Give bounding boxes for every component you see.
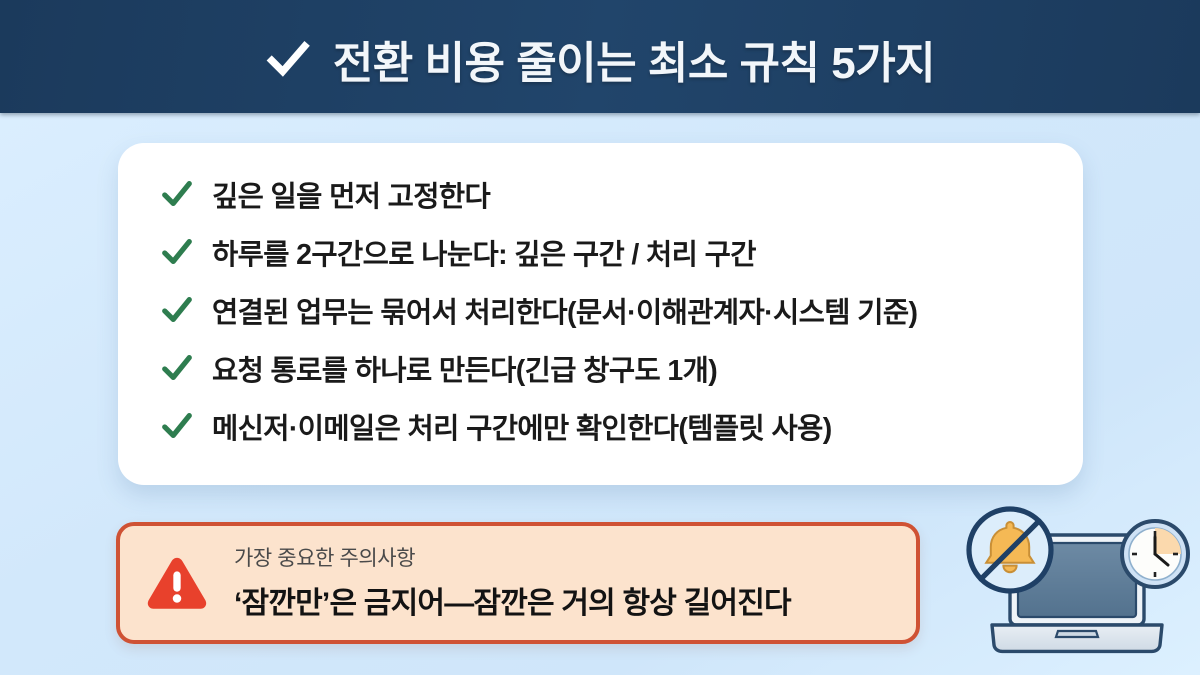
check-icon <box>160 235 194 269</box>
clock-icon <box>1122 521 1188 587</box>
check-icon <box>160 351 194 385</box>
list-item: 연결된 업무는 묶어서 처리한다(문서·이해관계자·시스템 기준) <box>118 281 1083 339</box>
check-icon <box>160 409 194 443</box>
check-icon <box>160 293 194 327</box>
warning-texts: 가장 중요한 주의사항 ‘잠깐만’은 금지어—잠깐은 거의 항상 길어진다 <box>234 542 791 622</box>
list-item: 하루를 2구간으로 나눈다: 깊은 구간 / 처리 구간 <box>118 223 1083 281</box>
list-item: 요청 통로를 하나로 만든다(긴급 창구도 1개) <box>118 339 1083 397</box>
warning-label: 가장 중요한 주의사항 <box>234 542 791 572</box>
check-icon <box>265 36 311 82</box>
warning-callout: 가장 중요한 주의사항 ‘잠깐만’은 금지어—잠깐은 거의 항상 길어진다 <box>116 522 920 644</box>
list-item: 깊은 일을 먼저 고정한다 <box>118 165 1083 223</box>
rule-text: 요청 통로를 하나로 만든다(긴급 창구도 1개) <box>212 348 717 389</box>
slide-root: 전환 비용 줄이는 최소 규칙 5가지 깊은 일을 먼저 고정한다 하루를 2구… <box>0 0 1200 675</box>
rules-card: 깊은 일을 먼저 고정한다 하루를 2구간으로 나눈다: 깊은 구간 / 처리 … <box>118 143 1083 485</box>
warning-triangle-icon <box>146 554 208 612</box>
rules-list: 깊은 일을 먼저 고정한다 하루를 2구간으로 나눈다: 깊은 구간 / 처리 … <box>118 165 1083 455</box>
bell-muted-icon <box>969 509 1051 591</box>
rule-text: 메신저·이메일은 처리 구간에만 확인한다(템플릿 사용) <box>212 406 832 447</box>
page-title: 전환 비용 줄이는 최소 규칙 5가지 <box>333 27 935 91</box>
list-item: 메신저·이메일은 처리 구간에만 확인한다(템플릿 사용) <box>118 397 1083 455</box>
slide-header: 전환 비용 줄이는 최소 규칙 5가지 <box>0 0 1200 113</box>
header-inner: 전환 비용 줄이는 최소 규칙 5가지 <box>265 27 935 91</box>
rule-text: 깊은 일을 먼저 고정한다 <box>212 174 490 215</box>
focus-illustration <box>952 495 1200 675</box>
warning-message: ‘잠깐만’은 금지어—잠깐은 거의 항상 길어진다 <box>234 578 791 622</box>
rule-text: 연결된 업무는 묶어서 처리한다(문서·이해관계자·시스템 기준) <box>212 290 917 331</box>
check-icon <box>160 177 194 211</box>
rule-text: 하루를 2구간으로 나눈다: 깊은 구간 / 처리 구간 <box>212 232 756 273</box>
